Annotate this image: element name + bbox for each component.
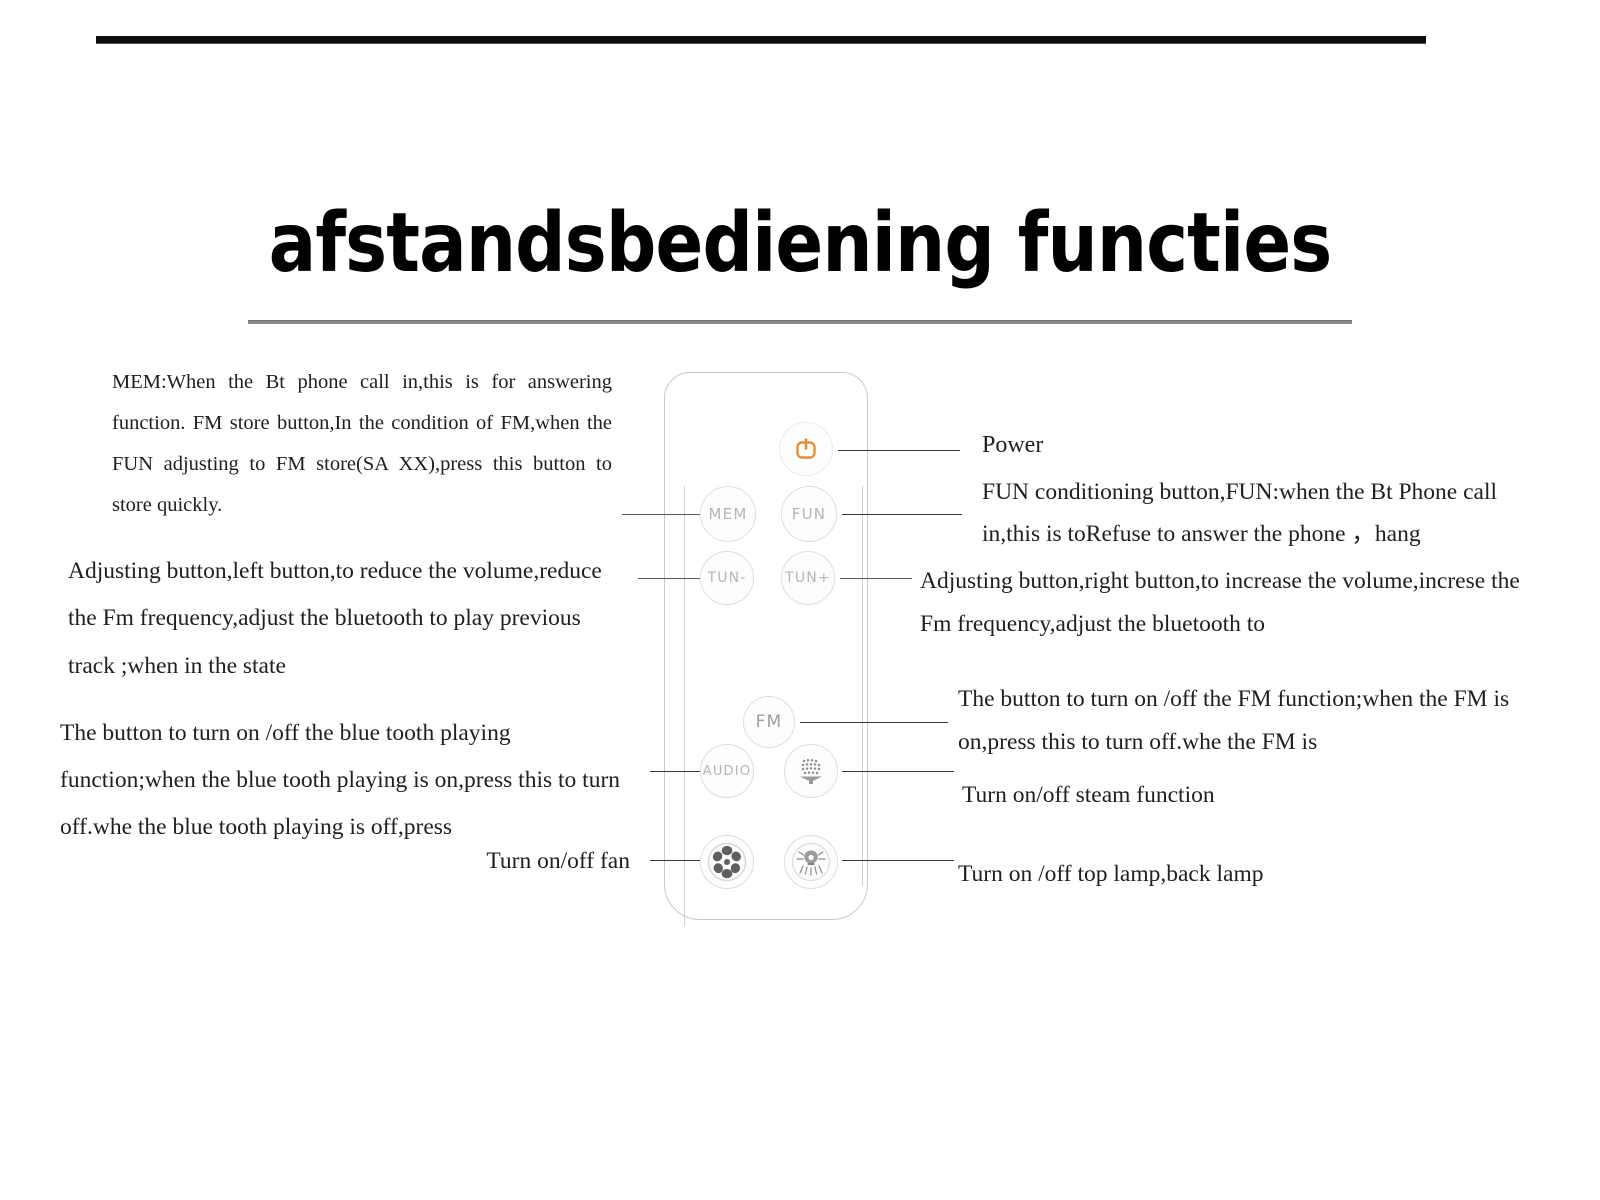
leader-line-fan (650, 860, 704, 861)
remote-button-fm[interactable]: FM (743, 696, 795, 748)
leader-line-steam (842, 771, 954, 772)
leader-line-fun (842, 514, 962, 515)
remote-button-steam[interactable] (784, 744, 838, 798)
leader-line-mem (622, 514, 704, 515)
note-tun-minus: Adjusting button,left button,to reduce t… (68, 548, 628, 690)
guide-line-right (862, 486, 863, 886)
leader-line-lamp (842, 860, 954, 861)
leader-line-fm (800, 722, 948, 723)
remote-button-power[interactable] (779, 422, 833, 476)
remote-button-tun-minus[interactable]: TUN- (700, 551, 754, 605)
remote-button-tun-plus[interactable]: TUN+ (781, 551, 835, 605)
leader-line-tun-plus (840, 578, 912, 579)
note-fan: Turn on/off fan (330, 842, 630, 880)
lamp-icon (790, 841, 832, 883)
title-underline-divider (248, 320, 1352, 324)
leader-line-audio (650, 771, 704, 772)
header-divider (96, 36, 1426, 43)
power-icon (793, 436, 819, 462)
slide-page: afstandsbediening functies MEM:When the … (0, 0, 1600, 1200)
remote-button-audio[interactable]: AUDIO (700, 744, 754, 798)
remote-button-fun-label: FUN (792, 505, 826, 523)
note-lamp: Turn on /off top lamp,back lamp (958, 855, 1398, 893)
note-fm: The button to turn on /off the FM functi… (958, 678, 1540, 764)
remote-button-fan[interactable] (700, 835, 754, 889)
remote-control-body (664, 372, 868, 920)
steam-icon (793, 753, 829, 789)
note-fun: FUN conditioning button,FUN:when the Bt … (982, 472, 1542, 556)
remote-button-mem-label: MEM (709, 505, 748, 523)
remote-button-audio-label: AUDIO (703, 764, 752, 779)
remote-button-fm-label: FM (756, 712, 783, 732)
note-steam: Turn on/off steam function (962, 776, 1382, 814)
leader-line-tun-minus (638, 578, 704, 579)
remote-button-tun-plus-label: TUN+ (785, 570, 831, 586)
page-title: afstandsbediening functies (112, 196, 1488, 291)
fan-icon (706, 841, 748, 883)
remote-button-fun[interactable]: FUN (781, 486, 837, 542)
remote-button-mem[interactable]: MEM (700, 486, 756, 542)
leader-line-power (838, 450, 960, 451)
note-mem: MEM:When the Bt phone call in,this is fo… (112, 362, 612, 526)
remote-button-tun-minus-label: TUN- (707, 570, 746, 586)
note-power: Power (982, 426, 1282, 465)
note-audio: The button to turn on /off the blue toot… (60, 710, 640, 851)
note-tun-plus: Adjusting button,right button,to increas… (920, 560, 1540, 646)
remote-button-lamp[interactable] (784, 835, 838, 889)
